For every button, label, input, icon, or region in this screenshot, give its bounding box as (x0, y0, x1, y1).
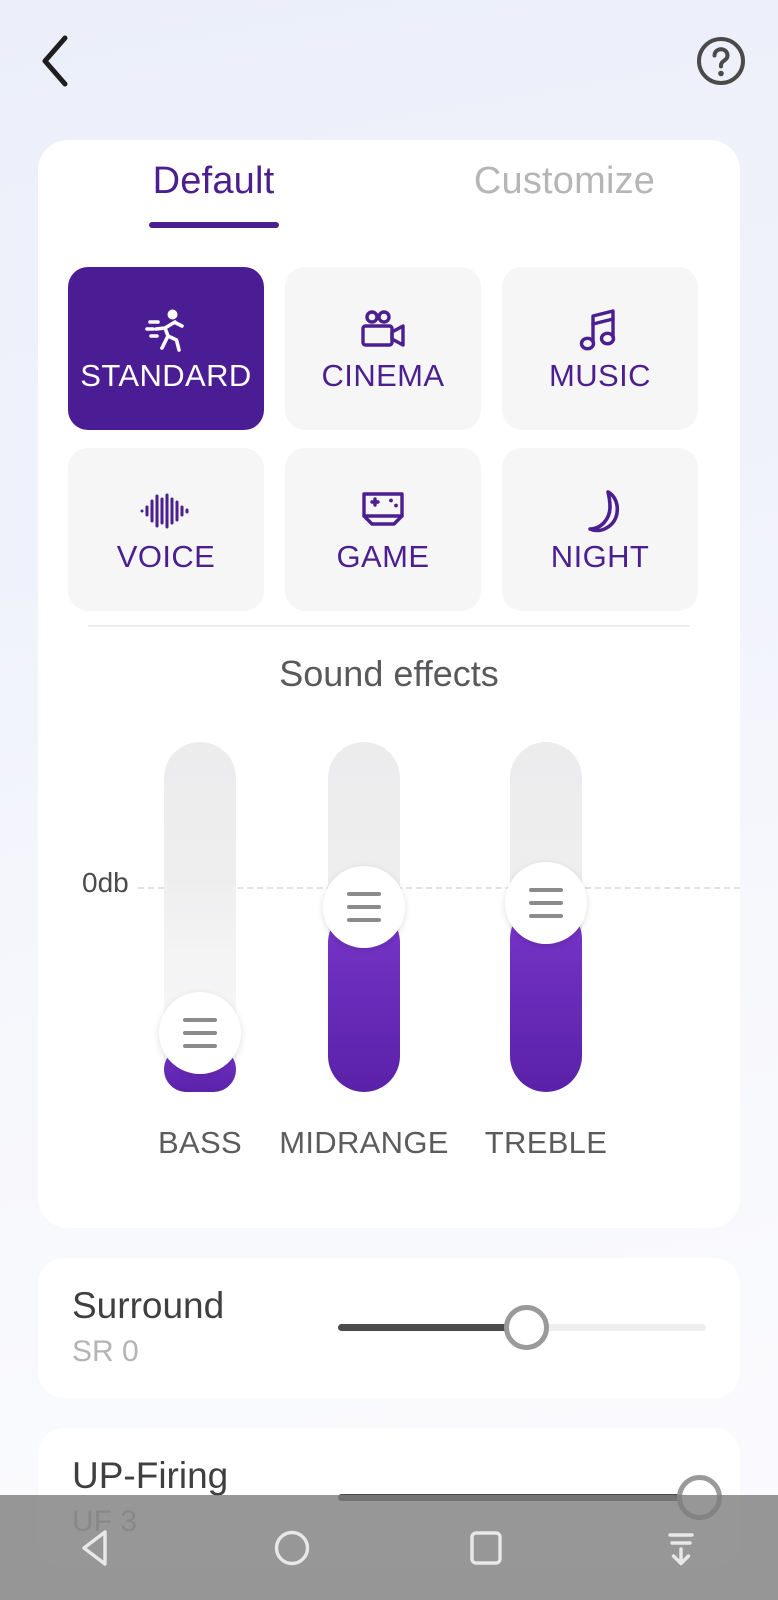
preset-voice-label: VOICE (117, 541, 215, 572)
grip-line (529, 888, 563, 892)
grip-line (529, 901, 563, 905)
grip-line (529, 914, 563, 918)
tab-default-label: Default (153, 160, 275, 203)
recents-square-icon (465, 1527, 507, 1569)
tab-active-indicator (149, 222, 279, 228)
music-note-icon (579, 306, 621, 354)
eq-slider-midrange[interactable]: MIDRANGE (328, 742, 400, 1092)
eq-slider-treble[interactable]: TREBLE (510, 742, 582, 1092)
help-button[interactable] (690, 30, 752, 92)
grip-line (183, 1018, 217, 1022)
hide-keyboard-icon (660, 1527, 702, 1569)
surround-slider-fill (338, 1324, 526, 1331)
preset-music-label: MUSIC (549, 360, 651, 391)
help-circle-icon (695, 35, 747, 87)
android-navigation-bar (0, 1495, 778, 1600)
sound-effects-title: Sound effects (38, 653, 740, 695)
tab-bar: Default Customize (38, 160, 740, 248)
grip-line (347, 918, 381, 922)
preset-standard[interactable]: STANDARD (68, 267, 264, 430)
moon-icon (579, 487, 621, 535)
preset-cinema[interactable]: CINEMA (285, 267, 481, 430)
preset-standard-label: STANDARD (80, 360, 251, 391)
home-circle-icon (271, 1527, 313, 1569)
grip-line (183, 1031, 217, 1035)
preset-grid: STANDARD CINEMA (68, 267, 710, 611)
preset-music[interactable]: MUSIC (502, 267, 698, 430)
tab-customize-label: Customize (474, 160, 655, 203)
surround-card: Surround SR 0 (38, 1258, 740, 1398)
preset-game[interactable]: GAME (285, 448, 481, 611)
nav-home-button[interactable] (195, 1495, 390, 1600)
eq-thumb-treble[interactable] (505, 862, 587, 944)
surround-value: SR 0 (72, 1335, 224, 1369)
grip-line (347, 892, 381, 896)
grip-line (347, 905, 381, 909)
surround-slider[interactable] (338, 1298, 706, 1358)
waveform-icon (140, 487, 192, 535)
nav-back-button[interactable] (0, 1495, 195, 1600)
surround-slider-thumb[interactable] (504, 1305, 549, 1350)
equalizer-sliders: 0db BASS (38, 730, 740, 1150)
eq-thumb-midrange[interactable] (323, 866, 405, 948)
zero-db-label: 0db (82, 867, 129, 899)
tab-default[interactable]: Default (38, 160, 389, 248)
preset-voice[interactable]: VOICE (68, 448, 264, 611)
nav-hide-keyboard-button[interactable] (584, 1495, 778, 1600)
running-person-icon (144, 306, 188, 354)
gamepad-icon (360, 487, 406, 535)
preset-game-label: GAME (337, 541, 430, 572)
equalizer-card: Default Customize (38, 140, 740, 1228)
section-divider (88, 625, 690, 627)
nav-recents-button[interactable] (389, 1495, 584, 1600)
back-triangle-icon (76, 1527, 118, 1569)
movie-camera-icon (358, 306, 408, 354)
chevron-left-icon (40, 35, 70, 87)
grip-line (183, 1044, 217, 1048)
surround-title: Surround (72, 1286, 224, 1327)
back-button[interactable] (24, 30, 86, 92)
up-firing-title: UP-Firing (72, 1456, 228, 1497)
eq-thumb-bass[interactable] (159, 992, 241, 1074)
preset-night[interactable]: NIGHT (502, 448, 698, 611)
tab-customize[interactable]: Customize (389, 160, 740, 248)
top-app-bar (0, 0, 778, 128)
preset-night-label: NIGHT (551, 541, 649, 572)
surround-text: Surround SR 0 (72, 1286, 224, 1369)
eq-slider-bass[interactable]: BASS (164, 742, 236, 1092)
preset-cinema-label: CINEMA (322, 360, 445, 391)
phone-screen: Default Customize (0, 0, 778, 1600)
eq-label-treble: TREBLE (436, 1125, 656, 1161)
